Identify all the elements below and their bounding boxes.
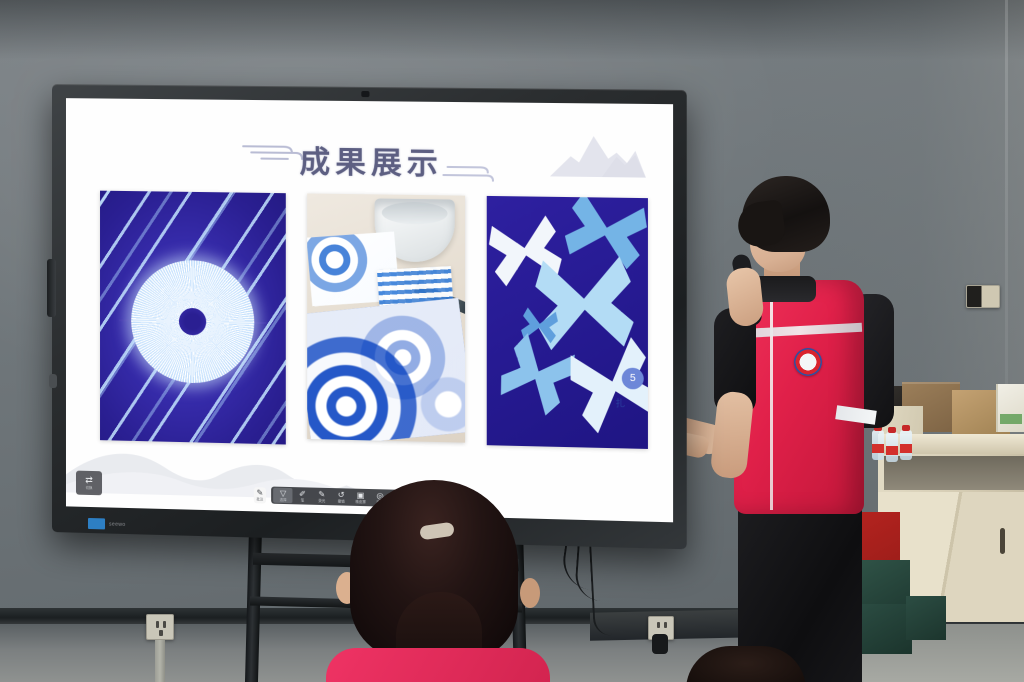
cursor-icon: ▽ [280,489,286,498]
annotation-mode-button[interactable]: ✎ 批注 [253,487,266,503]
child-ear-right [520,578,540,608]
cloud-motif-left-icon [239,136,304,169]
source-switch-label: 切换 [86,485,93,490]
artwork-signature: 扎 [616,396,625,409]
brand-mark-icon [88,518,105,529]
tie-dye-cloth-c [307,298,464,443]
cloud-motif-right-icon [441,159,495,186]
presenter-vest-zipper [770,288,773,510]
annotation-mode-label: 批注 [256,497,263,501]
slide-photo-row: 扎 5 [100,191,648,453]
display-side-handle [47,259,56,317]
pen-mode-icon: ✎ [256,489,263,497]
tool-pen-button[interactable]: ✐ 笔 [293,488,312,504]
presentation-slide[interactable]: 成果展示 [66,98,673,522]
tool-label: 选择 [280,498,287,502]
water-bottle [900,430,912,460]
display-screen[interactable]: 成果展示 [66,98,673,522]
tool-select-button[interactable]: ▽ 选择 [273,488,292,504]
photo-tie-dye-butterflies[interactable]: 扎 5 [486,196,648,449]
volunteer-emblem [794,348,822,376]
child-with-ponytail [326,480,556,682]
presenter-mic-hand [725,266,765,327]
wall-conduit [155,640,165,682]
wall-control-panel[interactable] [966,285,1000,308]
student-presenter [686,176,886,682]
wall-corner-edge [1005,0,1008,450]
white-box [996,384,1024,432]
tool-label: 笔 [301,498,304,502]
pen-icon: ✐ [299,489,306,498]
photo-tie-dye-sunburst-medallion[interactable] [100,191,286,445]
photo-tie-dye-cloth-with-bowl[interactable] [307,193,464,442]
slide-title-row: 成果展示 [66,132,673,188]
scene-root: 成果展示 [0,0,1024,682]
swap-icon: ⇄ [85,476,93,485]
medallion-burst [131,260,254,385]
artwork-badge: 5 [622,368,644,390]
water-bottle [886,432,898,462]
display-side-knob [49,374,57,388]
cabinet-handle[interactable] [1000,528,1005,554]
source-switch-button[interactable]: ⇄ 切换 [76,471,102,496]
child-shirt [326,648,550,682]
tool-label: 荧光 [318,499,325,503]
highlight-icon: ✎ [318,490,325,499]
outlet-plug [652,634,668,654]
brand-logo-text: seewo [109,521,126,527]
brand-logo: seewo [88,518,126,530]
page-title: 成果展示 [300,137,443,183]
green-carton-c [906,596,946,640]
wall-power-outlet [146,614,174,640]
camera-icon [361,91,369,97]
cabinet-open-shelf [884,456,1024,490]
